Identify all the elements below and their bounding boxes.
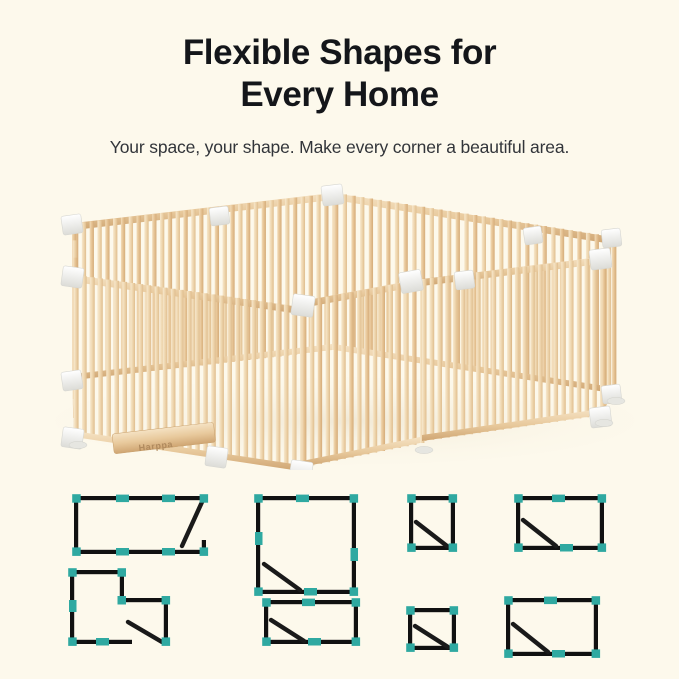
shape-square-gate-bottom-left[interactable] [252,492,362,598]
shape-small-rect-gate[interactable] [404,604,462,654]
playpen-illustration: Harppa [0,175,679,470]
promo-page: Flexible Shapes for Every Home Your spac… [0,0,679,679]
connector-front-right-top [589,248,612,270]
pen-foot [595,419,613,426]
pen-foot [415,446,433,453]
connector-front-left-right-top [291,294,316,318]
shape-small-square-gate[interactable] [405,492,461,554]
connector-apex-top [321,184,344,206]
connector-back-left-mid [209,206,230,226]
connector-inner-apex-top [398,269,423,294]
connector-right-end-top [601,228,622,248]
product-photo: Harppa [0,175,679,470]
shape-long-low-rect-gate[interactable] [260,596,364,648]
shape-wide-rect-gate-bottom-left[interactable] [512,492,610,554]
page-title: Flexible Shapes for Every Home [0,32,679,116]
connector-back-left-bottom [61,370,83,392]
shape-wide-rectangle-open-gate[interactable] [70,492,210,558]
connector-front-left-mid [205,446,229,469]
connector-back-left-top [61,214,83,236]
shape-large-rect-gate[interactable] [502,594,604,660]
connector-inner-mid [454,270,475,290]
header: Flexible Shapes for Every Home Your spac… [0,32,679,158]
pen-foot [607,397,625,404]
shape-l-shape-gate[interactable] [66,566,176,648]
shape-diagram-grid [52,484,637,654]
page-subtitle: Your space, your shape. Make every corne… [0,136,679,158]
connector-back-right-mid [523,226,543,245]
pen-foot [69,441,87,448]
connector-front-left-top [61,266,85,289]
